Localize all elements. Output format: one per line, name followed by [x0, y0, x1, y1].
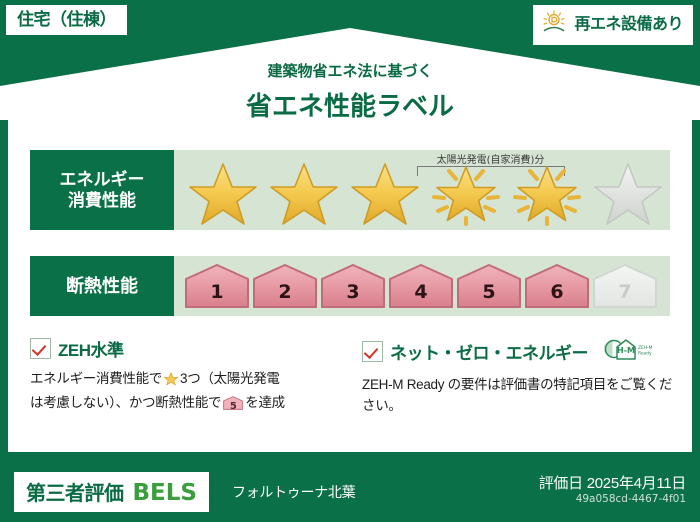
- svg-text:Ready: Ready: [638, 351, 652, 357]
- insulation-block-5-value: 5: [456, 281, 522, 303]
- evaluation-id: 49a058cd-4467-4f01: [576, 493, 686, 505]
- insulation-block-4: 4: [388, 263, 454, 309]
- energy-rating-area: 太陽光発電(自家消費)分: [174, 150, 670, 230]
- insulation-block-5: 5: [456, 263, 522, 309]
- insulation-block-3-value: 3: [320, 281, 386, 303]
- building-type-label: 住宅（住棟）: [17, 10, 116, 29]
- title-main: 省エネ性能ラベル: [0, 86, 700, 123]
- note-zeh-text-1: エネルギー消費性能で: [30, 371, 162, 386]
- insulation-block-1: 1: [184, 263, 250, 309]
- note-zeh-body: エネルギー消費性能で3つ（太陽光発電は考慮しない）、かつ断熱性能で5を達成: [30, 369, 344, 414]
- note-zeh-header: ZEH水準: [30, 336, 344, 361]
- energy-performance-label-box: エネルギー 消費性能: [30, 150, 174, 230]
- note-zeh-title: ZEH水準: [58, 336, 124, 361]
- svg-text:ZEH-M: ZEH-M: [638, 345, 653, 351]
- insulation-block-scale: 1 2 3: [184, 263, 658, 309]
- star-4-filled-solar: [427, 154, 505, 226]
- insulation-block-2: 2: [252, 263, 318, 309]
- building-type-tag: 住宅（住棟）: [6, 5, 127, 35]
- insulation-block-2-value: 2: [252, 281, 318, 303]
- inline-insulation-badge: 5: [223, 395, 243, 411]
- bels-certification-box: 第三者評価 BELS: [14, 472, 209, 512]
- svg-text:H-M: H-M: [617, 346, 635, 355]
- checkbox-checked-icon: [362, 341, 383, 362]
- insulation-label: 断熱性能: [66, 275, 138, 298]
- insulation-block-3: 3: [320, 263, 386, 309]
- insulation-block-4-value: 4: [388, 281, 454, 303]
- star-5-filled-solar: [508, 154, 586, 226]
- title-block: 建築物省エネ法に基づく 省エネ性能ラベル: [0, 60, 700, 123]
- title-subtitle: 建築物省エネ法に基づく: [0, 60, 700, 81]
- insulation-block-6: 6: [524, 263, 590, 309]
- main-panel: エネルギー 消費性能 太陽光発電(自家消費)分: [8, 118, 692, 452]
- notes-section: ZEH水準 エネルギー消費性能で3つ（太陽光発電は考慮しない）、かつ断熱性能で5…: [30, 336, 678, 417]
- note-nze-header: ネット・ゼロ・エネルギー H-M ZEH-M Ready: [362, 336, 676, 367]
- inline-insulation-badge-value: 5: [223, 399, 243, 415]
- footer-bar: 第三者評価 BELS フォルトゥーナ北葉 評価日 2025年4月11日 49a0…: [0, 460, 700, 522]
- energy-label-line1: エネルギー: [60, 169, 145, 190]
- star-6-empty: [589, 154, 667, 226]
- insulation-performance-label-box: 断熱性能: [30, 256, 174, 316]
- solar-sun-icon: [541, 10, 567, 39]
- evaluation-date: 評価日 2025年4月11日: [539, 472, 686, 493]
- insulation-performance-row: 断熱性能 1: [30, 256, 670, 316]
- energy-performance-row: エネルギー 消費性能 太陽光発電(自家消費)分: [30, 150, 670, 230]
- star-1-filled: [184, 154, 262, 226]
- star-2-filled: [265, 154, 343, 226]
- note-net-zero-energy: ネット・ゼロ・エネルギー H-M ZEH-M Ready ZEH-M Ready…: [362, 336, 676, 417]
- energy-performance-label: 住宅（住棟） 再エネ設備あり 建築物省エネ法に基づく: [0, 0, 700, 522]
- star-rating: [184, 154, 667, 226]
- note-zeh-standard: ZEH水準 エネルギー消費性能で3つ（太陽光発電は考慮しない）、かつ断熱性能で5…: [30, 336, 344, 417]
- note-nze-title: ネット・ゼロ・エネルギー: [390, 339, 588, 364]
- insulation-block-6-value: 6: [524, 281, 590, 303]
- insulation-block-7-value: 7: [592, 281, 658, 303]
- inline-star-icon: [163, 370, 179, 393]
- star-3-filled: [346, 154, 424, 226]
- renewable-equipment-badge: 再エネ設備あり: [533, 5, 693, 45]
- insulation-rating-area: 1 2 3: [174, 256, 670, 316]
- note-zeh-text-4: を達成: [245, 395, 285, 410]
- note-zeh-text-3: は考慮しない）、かつ断熱性能で: [30, 395, 221, 410]
- insulation-block-1-value: 1: [184, 281, 250, 303]
- note-zeh-text-2: 3つ（太陽光発電: [180, 371, 280, 386]
- insulation-block-7-empty: 7: [592, 263, 658, 309]
- building-name: フォルトゥーナ北葉: [232, 482, 355, 502]
- bels-jp-label: 第三者評価: [26, 477, 124, 506]
- zeh-m-ready-logo-icon: H-M ZEH-M Ready: [601, 336, 663, 367]
- note-nze-body: ZEH-M Ready の要件は評価書の特記項目をご覧ください。: [362, 375, 676, 417]
- checkbox-checked-icon: [30, 338, 51, 359]
- bels-en-label: BELS: [133, 480, 197, 506]
- renewable-badge-label: 再エネ設備あり: [574, 17, 683, 33]
- energy-label-line2: 消費性能: [68, 190, 136, 211]
